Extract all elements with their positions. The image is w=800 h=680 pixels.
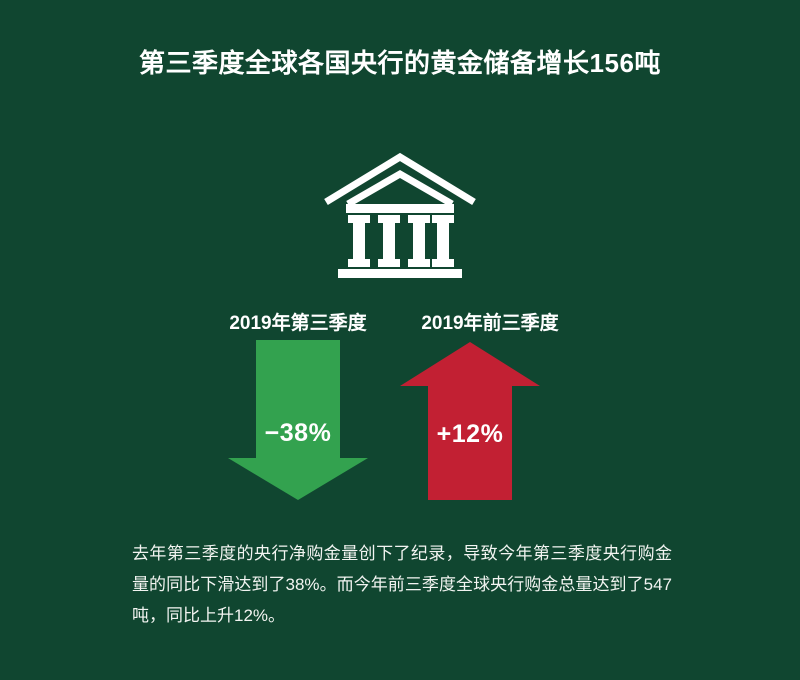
- down-arrow-value: −38%: [228, 419, 368, 448]
- page-title: 第三季度全球各国央行的黄金储备增长156吨: [0, 46, 800, 80]
- infographic-root: 第三季度全球各国央行的黄金储备增长156吨: [0, 0, 800, 680]
- arrow-comparison: −38% +12%: [0, 340, 800, 505]
- up-arrow-group: +12%: [400, 340, 540, 500]
- down-arrow-group: −38%: [228, 340, 368, 500]
- quarter-label-ytd: 2019年前三季度: [396, 308, 584, 335]
- bank-icon: [320, 152, 480, 280]
- body-paragraph: 去年第三季度的央行净购金量创下了纪录，导致今年第三季度央行购金量的同比下滑达到了…: [132, 538, 672, 631]
- quarter-label-q3: 2019年第三季度: [208, 308, 388, 335]
- arrow-labels: 2019年第三季度 2019年前三季度: [0, 308, 800, 334]
- up-arrow-value: +12%: [400, 420, 540, 449]
